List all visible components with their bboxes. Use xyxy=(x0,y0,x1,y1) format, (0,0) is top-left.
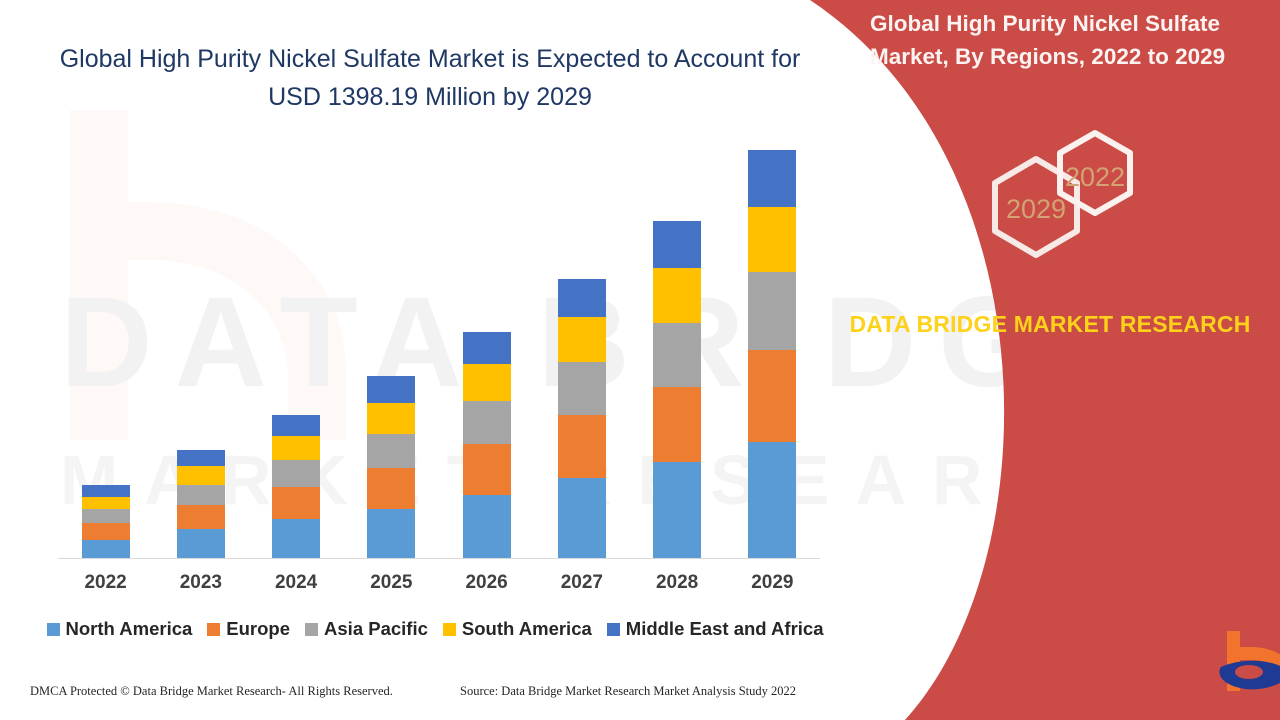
chart-bar-segment xyxy=(558,415,606,478)
dmca-notice: DMCA Protected © Data Bridge Market Rese… xyxy=(30,684,393,699)
chart-bar-segment xyxy=(653,387,701,462)
chart-bar-segment xyxy=(653,268,701,323)
chart-x-label: 2029 xyxy=(724,572,820,594)
chart-bar-segment xyxy=(82,485,130,497)
chart-x-label: 2022 xyxy=(58,572,154,594)
chart-bar-segment xyxy=(82,540,130,558)
legend-label: Europe xyxy=(226,618,290,640)
chart-bar-segment xyxy=(82,509,130,523)
chart-bar-segment xyxy=(558,279,606,318)
legend-swatch-icon xyxy=(443,623,456,636)
chart-bar-segment xyxy=(748,207,796,272)
chart-bar-segment xyxy=(177,505,225,529)
chart-x-label: 2026 xyxy=(439,572,535,594)
chart-bar-segment xyxy=(272,415,320,435)
legend-swatch-icon xyxy=(607,623,620,636)
legend-label: Asia Pacific xyxy=(324,618,428,640)
hex-label-2022: 2022 xyxy=(1065,162,1125,192)
chart-bar-segment xyxy=(177,466,225,484)
chart-bar-segment xyxy=(463,444,511,495)
chart-bar-segment xyxy=(558,478,606,558)
chart-bar xyxy=(748,150,796,558)
chart-x-label: 2023 xyxy=(153,572,249,594)
chart-bar-segment xyxy=(653,462,701,558)
brand-name: DATA BRIDGE MARKET RESEARCH xyxy=(840,308,1260,341)
chart-plot-area xyxy=(58,150,820,558)
chart-bar xyxy=(82,485,130,558)
chart-bar-segment xyxy=(82,523,130,539)
legend-swatch-icon xyxy=(305,623,318,636)
chart-bar-segment xyxy=(82,497,130,509)
chart-bar-segment xyxy=(272,487,320,520)
page-title: Global High Purity Nickel Sulfate Market… xyxy=(30,40,830,116)
chart-bar-segment xyxy=(558,362,606,415)
chart-bar-segment xyxy=(177,529,225,558)
chart-bar-segment xyxy=(463,495,511,558)
legend-item: South America xyxy=(443,618,592,640)
chart-bar-segment xyxy=(558,317,606,362)
chart-bar-segment xyxy=(367,509,415,558)
chart-bar-segment xyxy=(463,401,511,444)
source-note: Source: Data Bridge Market Research Mark… xyxy=(460,684,796,699)
stacked-bar-chart xyxy=(0,150,840,570)
chart-bar-segment xyxy=(367,403,415,434)
chart-bar xyxy=(463,332,511,558)
chart-bar-segment xyxy=(177,485,225,505)
chart-x-label: 2028 xyxy=(629,572,725,594)
chart-x-label: 2025 xyxy=(343,572,439,594)
chart-bar-segment xyxy=(272,519,320,558)
chart-bar-segment xyxy=(367,468,415,509)
chart-x-label: 2024 xyxy=(248,572,344,594)
legend-item: Asia Pacific xyxy=(305,618,428,640)
chart-x-axis-labels: 20222023202420252026202720282029 xyxy=(58,572,820,600)
chart-bar xyxy=(558,279,606,558)
data-bridge-logo: DATA BRIDGE MARKET RESEARCH xyxy=(1215,627,1280,699)
chart-bar-segment xyxy=(653,221,701,268)
chart-axis-line xyxy=(58,558,820,559)
chart-bar-segment xyxy=(272,460,320,487)
chart-bar xyxy=(367,376,415,558)
chart-bar xyxy=(177,450,225,558)
chart-bar-segment xyxy=(748,442,796,558)
legend-item: Europe xyxy=(207,618,290,640)
panel-heading: Global High Purity Nickel Sulfate Market… xyxy=(870,8,1260,73)
chart-bar-segment xyxy=(177,450,225,466)
chart-legend: North AmericaEuropeAsia PacificSouth Ame… xyxy=(40,615,830,643)
hexagon-badge-group: 2029 2022 xyxy=(810,128,1280,288)
chart-bar-segment xyxy=(367,376,415,403)
chart-bar xyxy=(653,221,701,558)
chart-bar-segment xyxy=(653,323,701,386)
chart-bar-segment xyxy=(748,150,796,207)
legend-label: Middle East and Africa xyxy=(626,618,824,640)
legend-item: North America xyxy=(47,618,193,640)
chart-bar-segment xyxy=(463,364,511,401)
chart-x-label: 2027 xyxy=(534,572,630,594)
chart-bar-segment xyxy=(272,436,320,460)
data-bridge-b-icon xyxy=(1219,631,1280,691)
chart-bar-segment xyxy=(748,350,796,442)
hex-label-2029: 2029 xyxy=(1006,194,1066,224)
legend-label: South America xyxy=(462,618,592,640)
right-side-panel: Global High Purity Nickel Sulfate Market… xyxy=(810,0,1280,720)
legend-item: Middle East and Africa xyxy=(607,618,824,640)
legend-swatch-icon xyxy=(207,623,220,636)
chart-bar-segment xyxy=(367,434,415,469)
chart-bar xyxy=(272,415,320,558)
footer: DMCA Protected © Data Bridge Market Rese… xyxy=(0,684,840,708)
chart-bar-segment xyxy=(463,332,511,365)
panel-background-shape xyxy=(810,0,1280,720)
legend-label: North America xyxy=(66,618,193,640)
legend-swatch-icon xyxy=(47,623,60,636)
chart-bar-segment xyxy=(748,272,796,350)
